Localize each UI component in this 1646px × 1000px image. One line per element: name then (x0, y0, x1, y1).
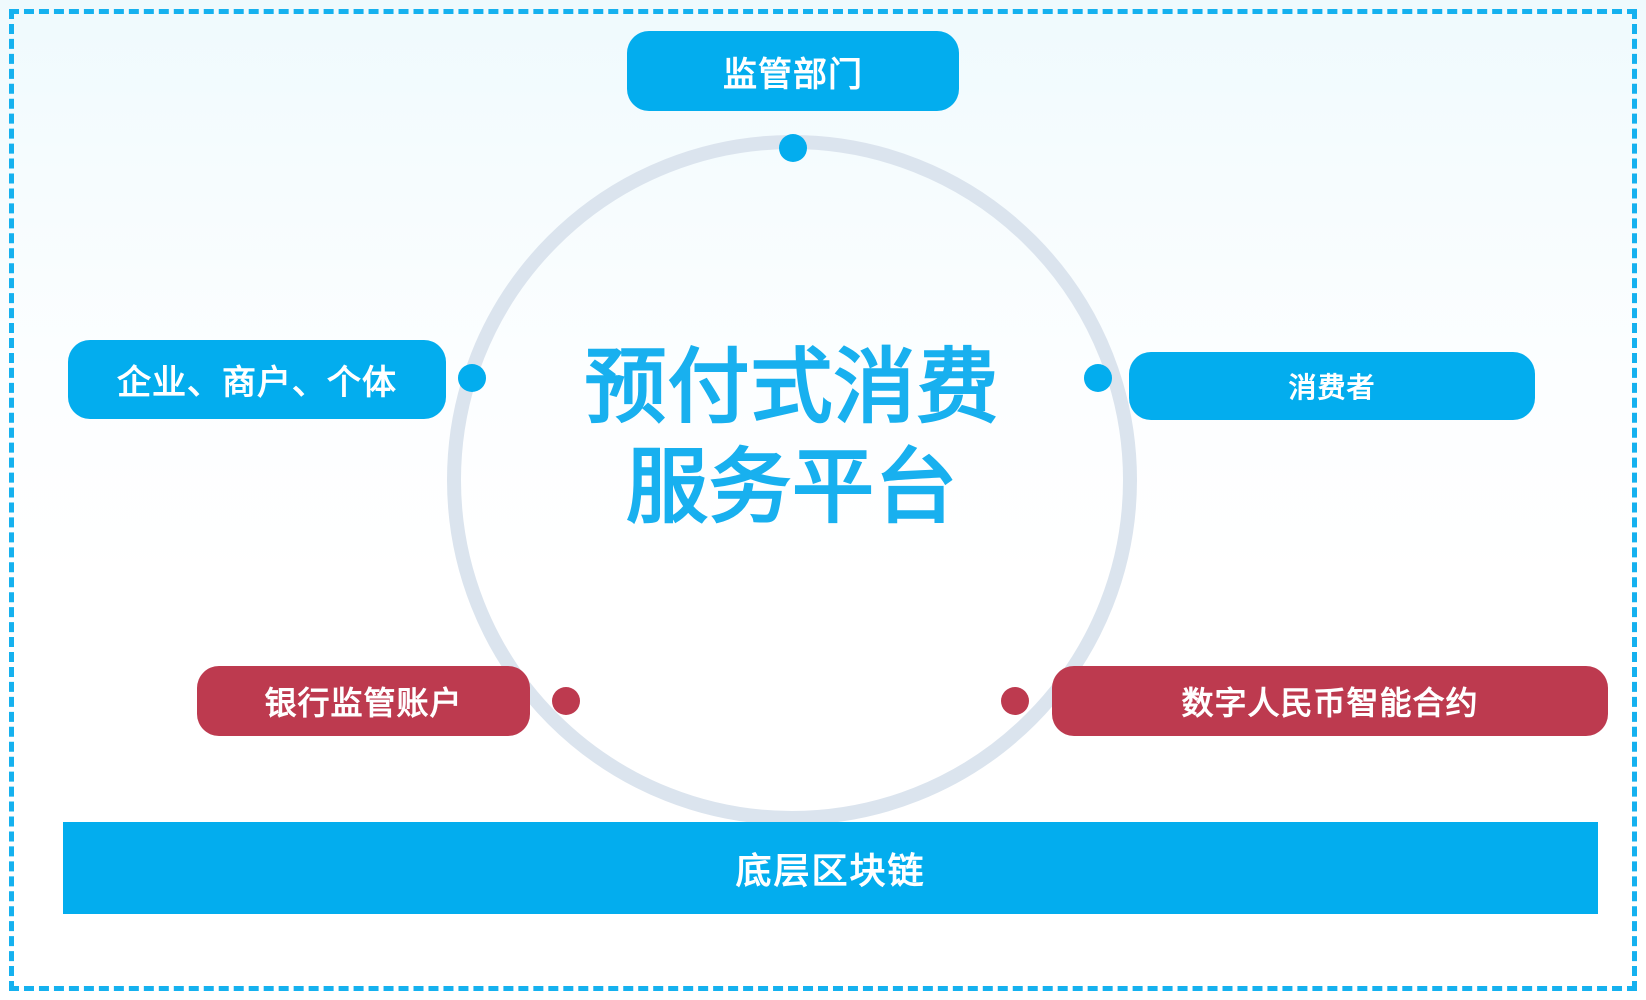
foundation-blockchain-bar[interactable]: 底层区块链 (63, 822, 1598, 914)
ring-node-left-dot (458, 364, 486, 392)
node-label-digital-rmb-smart-contract[interactable]: 数字人民币智能合约 (1052, 666, 1608, 736)
ring-node-top-dot (779, 134, 807, 162)
ring-node-bottom-left-dot (552, 687, 580, 715)
center-platform-title: 预付式消费 服务平台 (532, 338, 1052, 538)
node-label-enterprises-merchants-individuals[interactable]: 企业、商户、个体 (68, 340, 446, 419)
node-label-regulator[interactable]: 监管部门 (627, 31, 959, 111)
center-title-line-2: 服务平台 (532, 438, 1052, 538)
center-title-line-1: 预付式消费 (532, 338, 1052, 438)
node-label-consumers[interactable]: 消费者 (1129, 352, 1535, 420)
ring-node-right-dot (1084, 364, 1112, 392)
diagram-canvas: 预付式消费 服务平台 监管部门 企业、商户、个体 消费者 银行监管账户 数字人民… (0, 0, 1646, 1000)
node-label-bank-supervision-account[interactable]: 银行监管账户 (197, 666, 530, 736)
ring-node-bottom-right-dot (1001, 687, 1029, 715)
